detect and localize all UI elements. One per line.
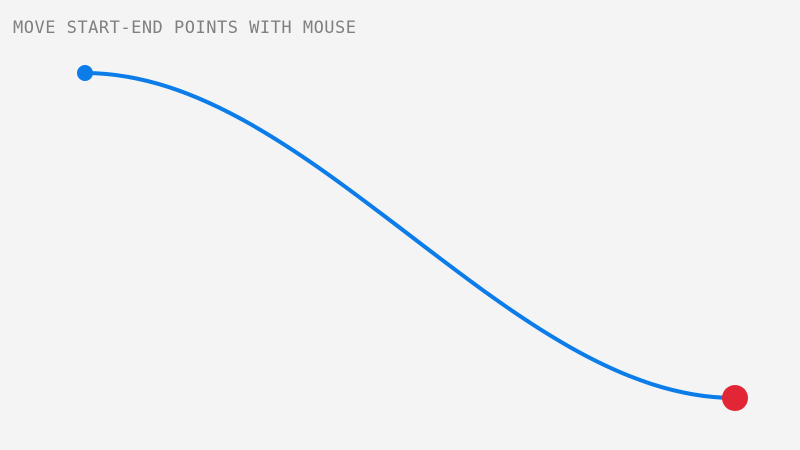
app-root: MOVE START-END POINTS WITH MOUSE <box>0 0 800 450</box>
end-point-handle[interactable] <box>722 385 748 411</box>
bezier-curve-canvas[interactable] <box>0 0 800 450</box>
canvas-stage[interactable]: MOVE START-END POINTS WITH MOUSE <box>0 0 800 450</box>
start-point-handle[interactable] <box>77 65 93 81</box>
bezier-curve-path <box>85 73 735 398</box>
page-title: MOVE START-END POINTS WITH MOUSE <box>13 17 357 39</box>
